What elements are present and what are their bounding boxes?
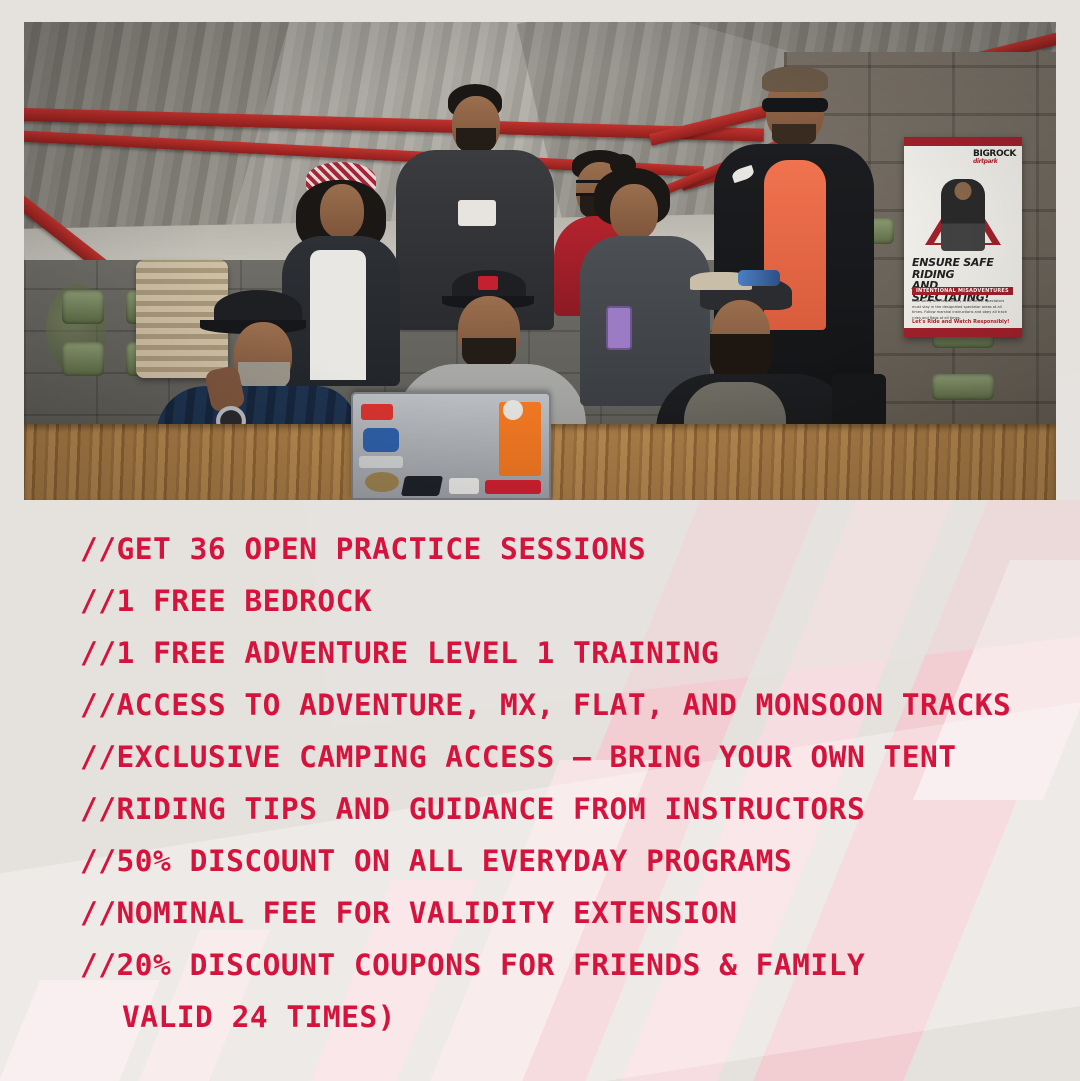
sticker-s-logo	[401, 476, 443, 496]
poster-top-bar	[904, 137, 1022, 146]
poster-tag: INTENTIONAL MISADVENTURES	[912, 287, 1013, 295]
sticker-br-dirt	[361, 404, 393, 420]
sticker-grey-strip	[359, 456, 403, 468]
poster-brand-sub: dirtpark	[973, 159, 1016, 165]
poster-headline: ENSURE SAFE RIDING AND SPECTATING!	[912, 257, 1014, 303]
hero-photo: BIGROCK dirtpark ENSURE SAFE RIDING AND …	[24, 22, 1056, 500]
wall-window-left-1	[62, 290, 104, 324]
benefits-list: //GET 36 OPEN PRACTICE SESSIONS //1 FREE…	[80, 523, 1060, 1043]
sunglasses-icon	[762, 98, 828, 112]
sticker-orange-circle	[503, 400, 523, 420]
benefit-item: //EXCLUSIVE CAMPING ACCESS — BRING YOUR …	[80, 731, 1060, 783]
sticker-blue-badge	[363, 428, 399, 452]
benefit-item: //ACCESS TO ADVENTURE, MX, FLAT, AND MON…	[80, 679, 1060, 731]
person-back-center-shirt-graphic	[458, 200, 496, 226]
poster-footer-text: Let's Ride and Watch Responsibly!	[912, 319, 1009, 325]
benefit-item: //1 FREE ADVENTURE LEVEL 1 TRAINING	[80, 627, 1060, 679]
poster-rider-head	[955, 182, 972, 200]
benefit-item: //RIDING TIPS AND GUIDANCE FROM INSTRUCT…	[80, 783, 1060, 835]
benefit-item: //1 FREE BEDROCK	[80, 575, 1060, 627]
benefit-item: //GET 36 OPEN PRACTICE SESSIONS	[80, 523, 1060, 575]
poster-rider-figure	[941, 179, 985, 251]
membership-benefits-poster: BIGROCK dirtpark ENSURE SAFE RIDING AND …	[0, 0, 1080, 1081]
poster-bottom-bar	[904, 328, 1022, 337]
benefit-item: //20% DISCOUNT COUPONS FOR FRIENDS & FAM…	[80, 939, 1060, 991]
photo-scene: BIGROCK dirtpark ENSURE SAFE RIDING AND …	[24, 22, 1056, 500]
goggles-icon	[738, 270, 780, 286]
benefit-item: //NOMINAL FEE FOR VALIDITY EXTENSION	[80, 887, 1060, 939]
sticker-skull	[365, 472, 399, 492]
person-center-cap-logo	[478, 276, 498, 290]
sticker-mountain	[449, 478, 479, 494]
smartphone-icon[interactable]	[606, 306, 632, 350]
sticker-bigrock-dirtpark	[485, 480, 541, 494]
laptop[interactable]	[351, 392, 551, 500]
safety-poster: BIGROCK dirtpark ENSURE SAFE RIDING AND …	[904, 137, 1022, 337]
wall-window-left-2	[62, 342, 104, 376]
person-sunglasses-beard	[772, 124, 816, 146]
person-phone-woman-head	[610, 184, 658, 240]
person-sunglasses-hair	[762, 66, 828, 92]
person-bandana-woman-head	[320, 184, 364, 238]
poster-brand-logo: BIGROCK dirtpark	[973, 150, 1016, 165]
poster-headline-line1: ENSURE SAFE RIDING	[912, 257, 1014, 280]
poster-body-text: Ride safely and responsibly at all times…	[912, 299, 1014, 321]
benefit-item: //50% DISCOUNT ON ALL EVERYDAY PROGRAMS	[80, 835, 1060, 887]
benefit-item: VALID 24 TIMES)	[80, 991, 1060, 1043]
wall-vent-4	[932, 374, 994, 400]
